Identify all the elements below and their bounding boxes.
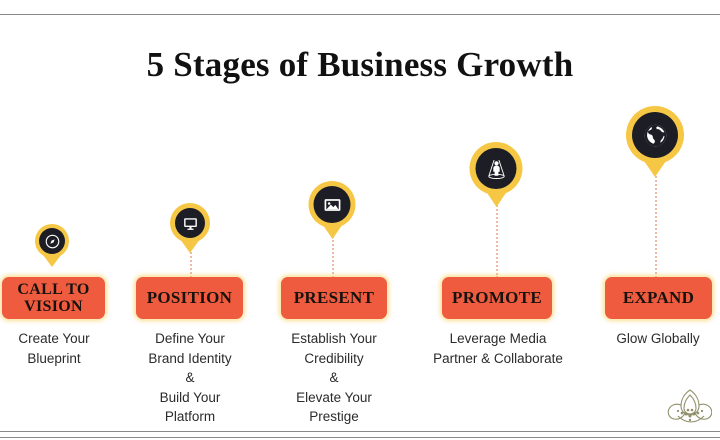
stage-3: PRESENT Establish Your Credibility & Ele… [279,0,389,440]
pin-tail [642,158,668,177]
stage-4-badge[interactable]: PROMOTE [442,277,552,319]
stage-2-connector [190,252,192,278]
stage-5: EXPAND Glow Globally [602,0,714,440]
stage-1-badge[interactable]: CALL TO VISION [2,277,105,319]
ornamental-logo [656,386,712,428]
stage-1: CALL TO VISION Create Your Blueprint [0,0,108,440]
stage-3-label: PRESENT [294,289,375,307]
pin-tail [43,255,61,267]
pin-tail [321,223,343,239]
pin-tail [180,239,200,253]
spotlight-person-icon [476,148,517,189]
stage-5-label: EXPAND [623,289,694,307]
stage-2-description: Define Your Brand Identity & Build Your … [135,329,245,427]
infographic-canvas: 5 Stages of Business Growth CALL TO VISI… [0,0,720,440]
stage-1-pin[interactable] [35,224,69,258]
stage-4-description: Leverage Media Partner & Collaborate [424,329,572,368]
stage-5-connector [655,160,657,278]
stage-5-description: Glow Globally [602,329,714,349]
stage-5-pin[interactable] [626,106,684,164]
pin-tail [484,189,508,207]
monitor-icon [175,208,205,238]
stage-3-pin[interactable] [309,181,356,228]
stage-3-badge[interactable]: PRESENT [281,277,387,319]
image-icon [314,186,351,223]
stage-2-pin[interactable] [170,203,210,243]
stage-4: PROMOTE Leverage Media Partner & Collabo… [442,0,554,440]
globe-icon [632,112,678,158]
stage-1-label: CALL TO VISION [17,281,89,316]
stage-5-badge[interactable]: EXPAND [605,277,712,319]
stage-2-badge[interactable]: POSITION [136,277,243,319]
stage-3-description: Establish Your Credibility & Elevate You… [279,329,389,427]
stage-4-pin[interactable] [470,142,523,195]
stage-1-description: Create Your Blueprint [0,329,108,368]
stage-2-label: POSITION [147,289,233,307]
stage-4-label: PROMOTE [452,289,542,307]
stage-2: POSITION Define Your Brand Identity & Bu… [136,0,246,440]
compass-icon [39,228,65,254]
